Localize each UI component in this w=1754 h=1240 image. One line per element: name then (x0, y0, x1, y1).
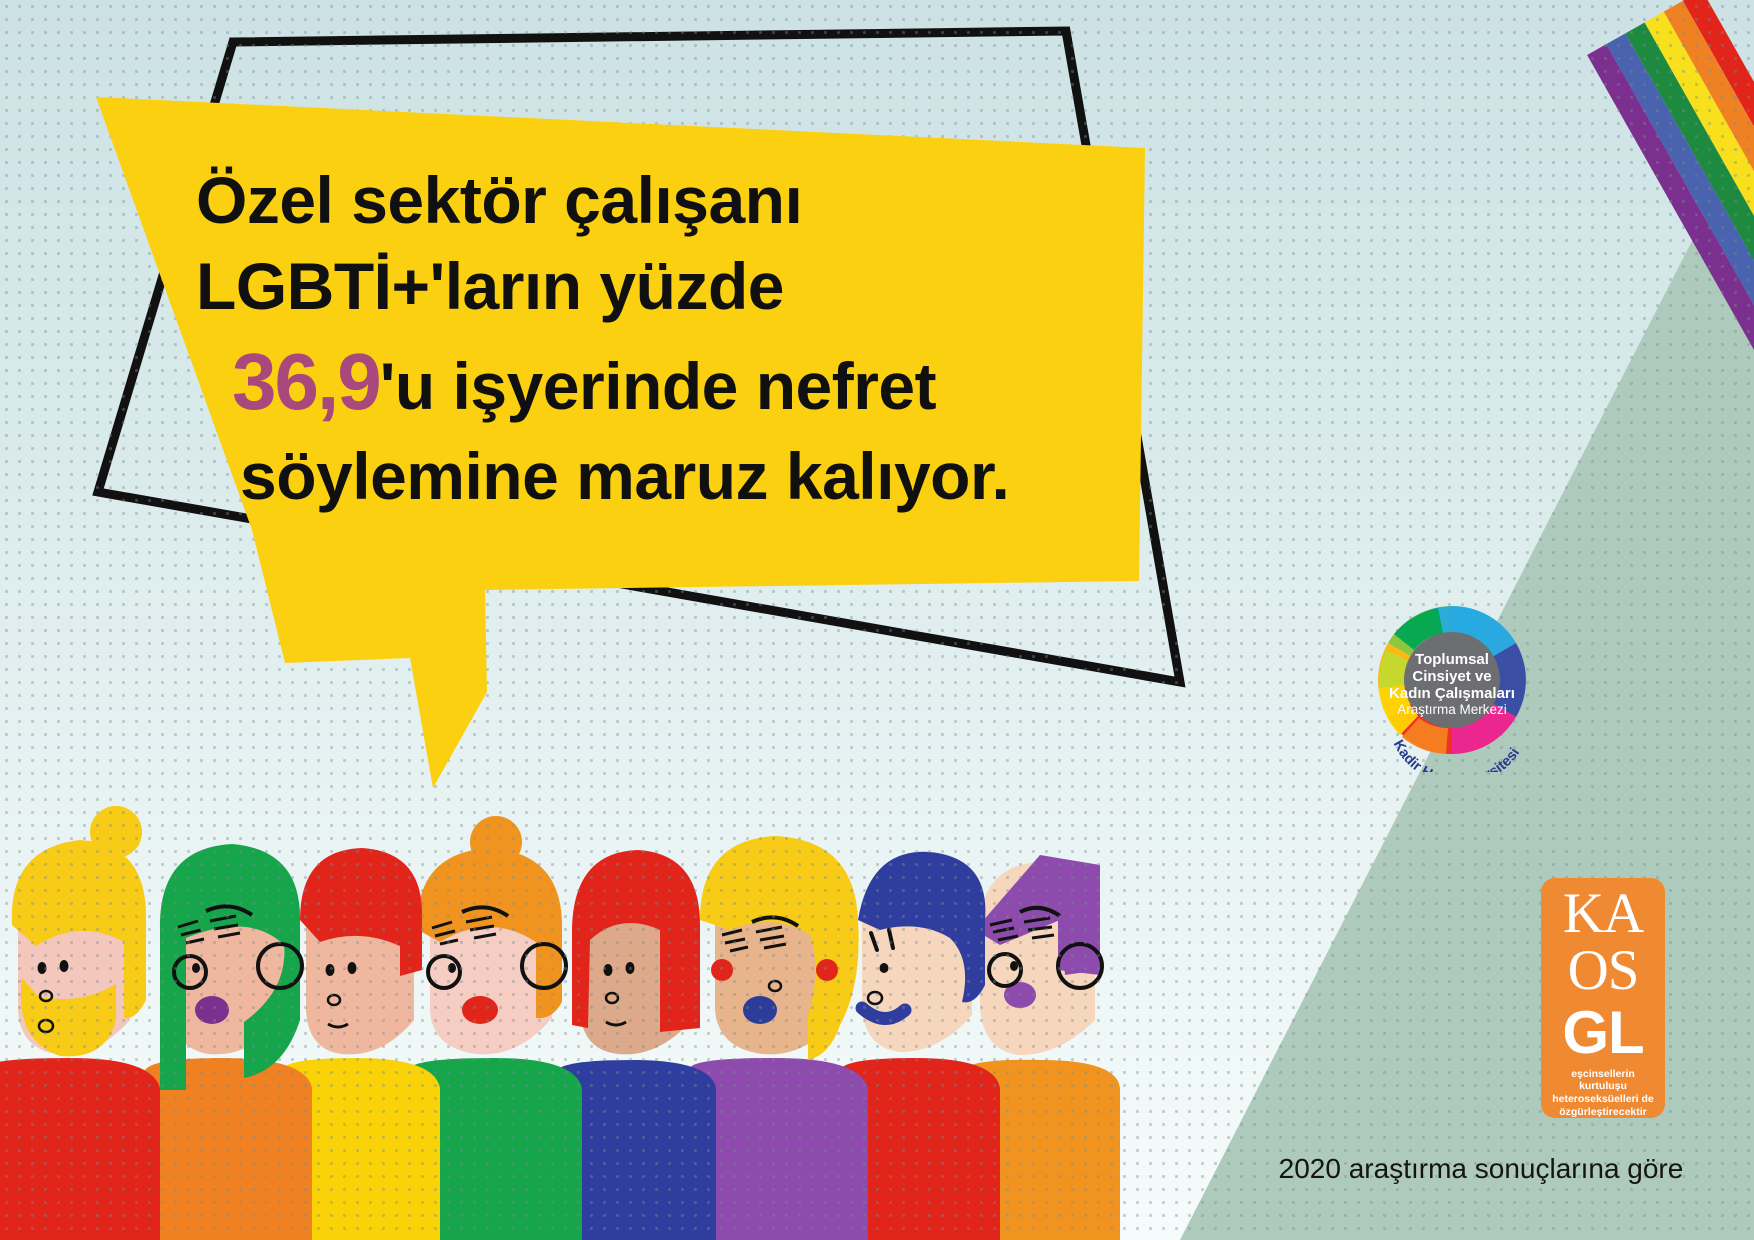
kaos-gl-logo: KA OS GL eşcinsellerin kurtuluşu heteros… (1541, 878, 1665, 1118)
khas-line-2: Cinsiyet ve (1412, 668, 1491, 685)
poster-root: Özel sektör çalışanı LGBTİ+'ların yüzde … (0, 0, 1754, 1240)
kaos-tagline-2: heteroseksüelleri de (1547, 1093, 1659, 1106)
khas-line-1: Toplumsal (1415, 651, 1489, 668)
headline-line-2: LGBTİ+'ların yüzde (196, 244, 1046, 330)
kaos-tagline-3: özgürleştirecektir (1547, 1106, 1659, 1119)
headline-line-4: söylemine maruz kalıyor. (240, 434, 1046, 520)
kaos-logo-line-1: KA (1563, 886, 1643, 942)
khas-line-3: Kadın Çalışmaları (1389, 685, 1515, 702)
khas-line-4: Araştırma Merkezi (1397, 702, 1507, 717)
kaos-logo-tagline: eşcinsellerin kurtuluşu heteroseksüeller… (1547, 1068, 1659, 1119)
headline-line-3: 36,9'u işyerinde nefret (232, 330, 1046, 434)
kaos-logo-line-3: GL (1562, 1003, 1643, 1063)
headline-line-3-rest: 'u işyerinde nefret (380, 349, 936, 423)
stat-value: 36,9 (232, 337, 380, 426)
kaos-logo-line-2: OS (1568, 942, 1639, 1000)
kaos-tagline-1: eşcinsellerin kurtuluşu (1547, 1068, 1659, 1094)
headline-text: Özel sektör çalışanı LGBTİ+'ların yüzde … (196, 158, 1046, 519)
khas-research-center-logo: Toplumsal Cinsiyet ve Kadın Çalışmaları … (1352, 592, 1562, 772)
source-footnote: 2020 araştırma sonuçlarına göre (1246, 1153, 1716, 1185)
headline-line-1: Özel sektör çalışanı (196, 158, 1046, 244)
